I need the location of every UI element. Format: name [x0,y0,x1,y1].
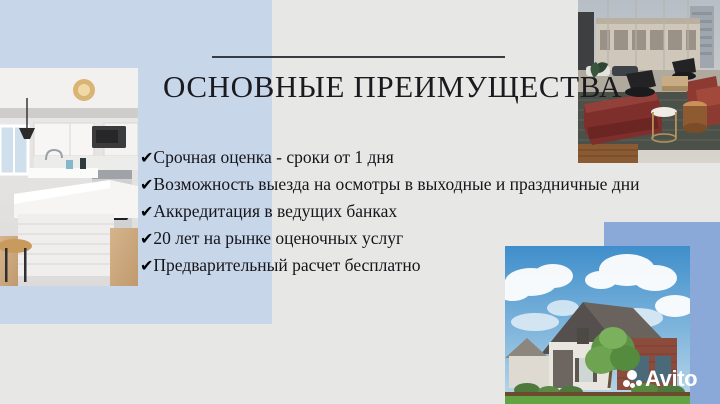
slide-canvas: ОСНОВНЫЕ ПРЕИМУЩЕСТВА ✔ Срочная оценка -… [0,0,720,404]
list-item: ✔ Предварительный расчет бесплатно [140,252,639,279]
title-divider [212,56,505,58]
list-item: ✔ Возможность выезда на осмотры в выходн… [140,171,639,198]
list-item-label: Возможность выезда на осмотры в выходные… [153,171,639,198]
checkmark-icon: ✔ [140,252,153,279]
list-item-label: Предварительный расчет бесплатно [153,252,420,279]
checkmark-icon: ✔ [140,171,153,198]
checkmark-icon: ✔ [140,144,153,171]
list-item-label: 20 лет на рынке оценочных услуг [153,225,403,252]
page-title: ОСНОВНЫЕ ПРЕИМУЩЕСТВА [163,68,622,106]
list-item-label: Срочная оценка - сроки от 1 дня [153,144,393,171]
list-item: ✔ Аккредитация в ведущих банках [140,198,639,225]
list-item-label: Аккредитация в ведущих банках [153,198,397,225]
checkmark-icon: ✔ [140,225,153,252]
list-item: ✔ 20 лет на рынке оценочных услуг [140,225,639,252]
list-item: ✔ Срочная оценка - сроки от 1 дня [140,144,639,171]
checkmark-icon: ✔ [140,198,153,225]
kitchen-photo-art [0,68,138,286]
kitchen-photo [0,68,138,286]
benefits-list: ✔ Срочная оценка - сроки от 1 дня ✔ Возм… [140,144,639,279]
